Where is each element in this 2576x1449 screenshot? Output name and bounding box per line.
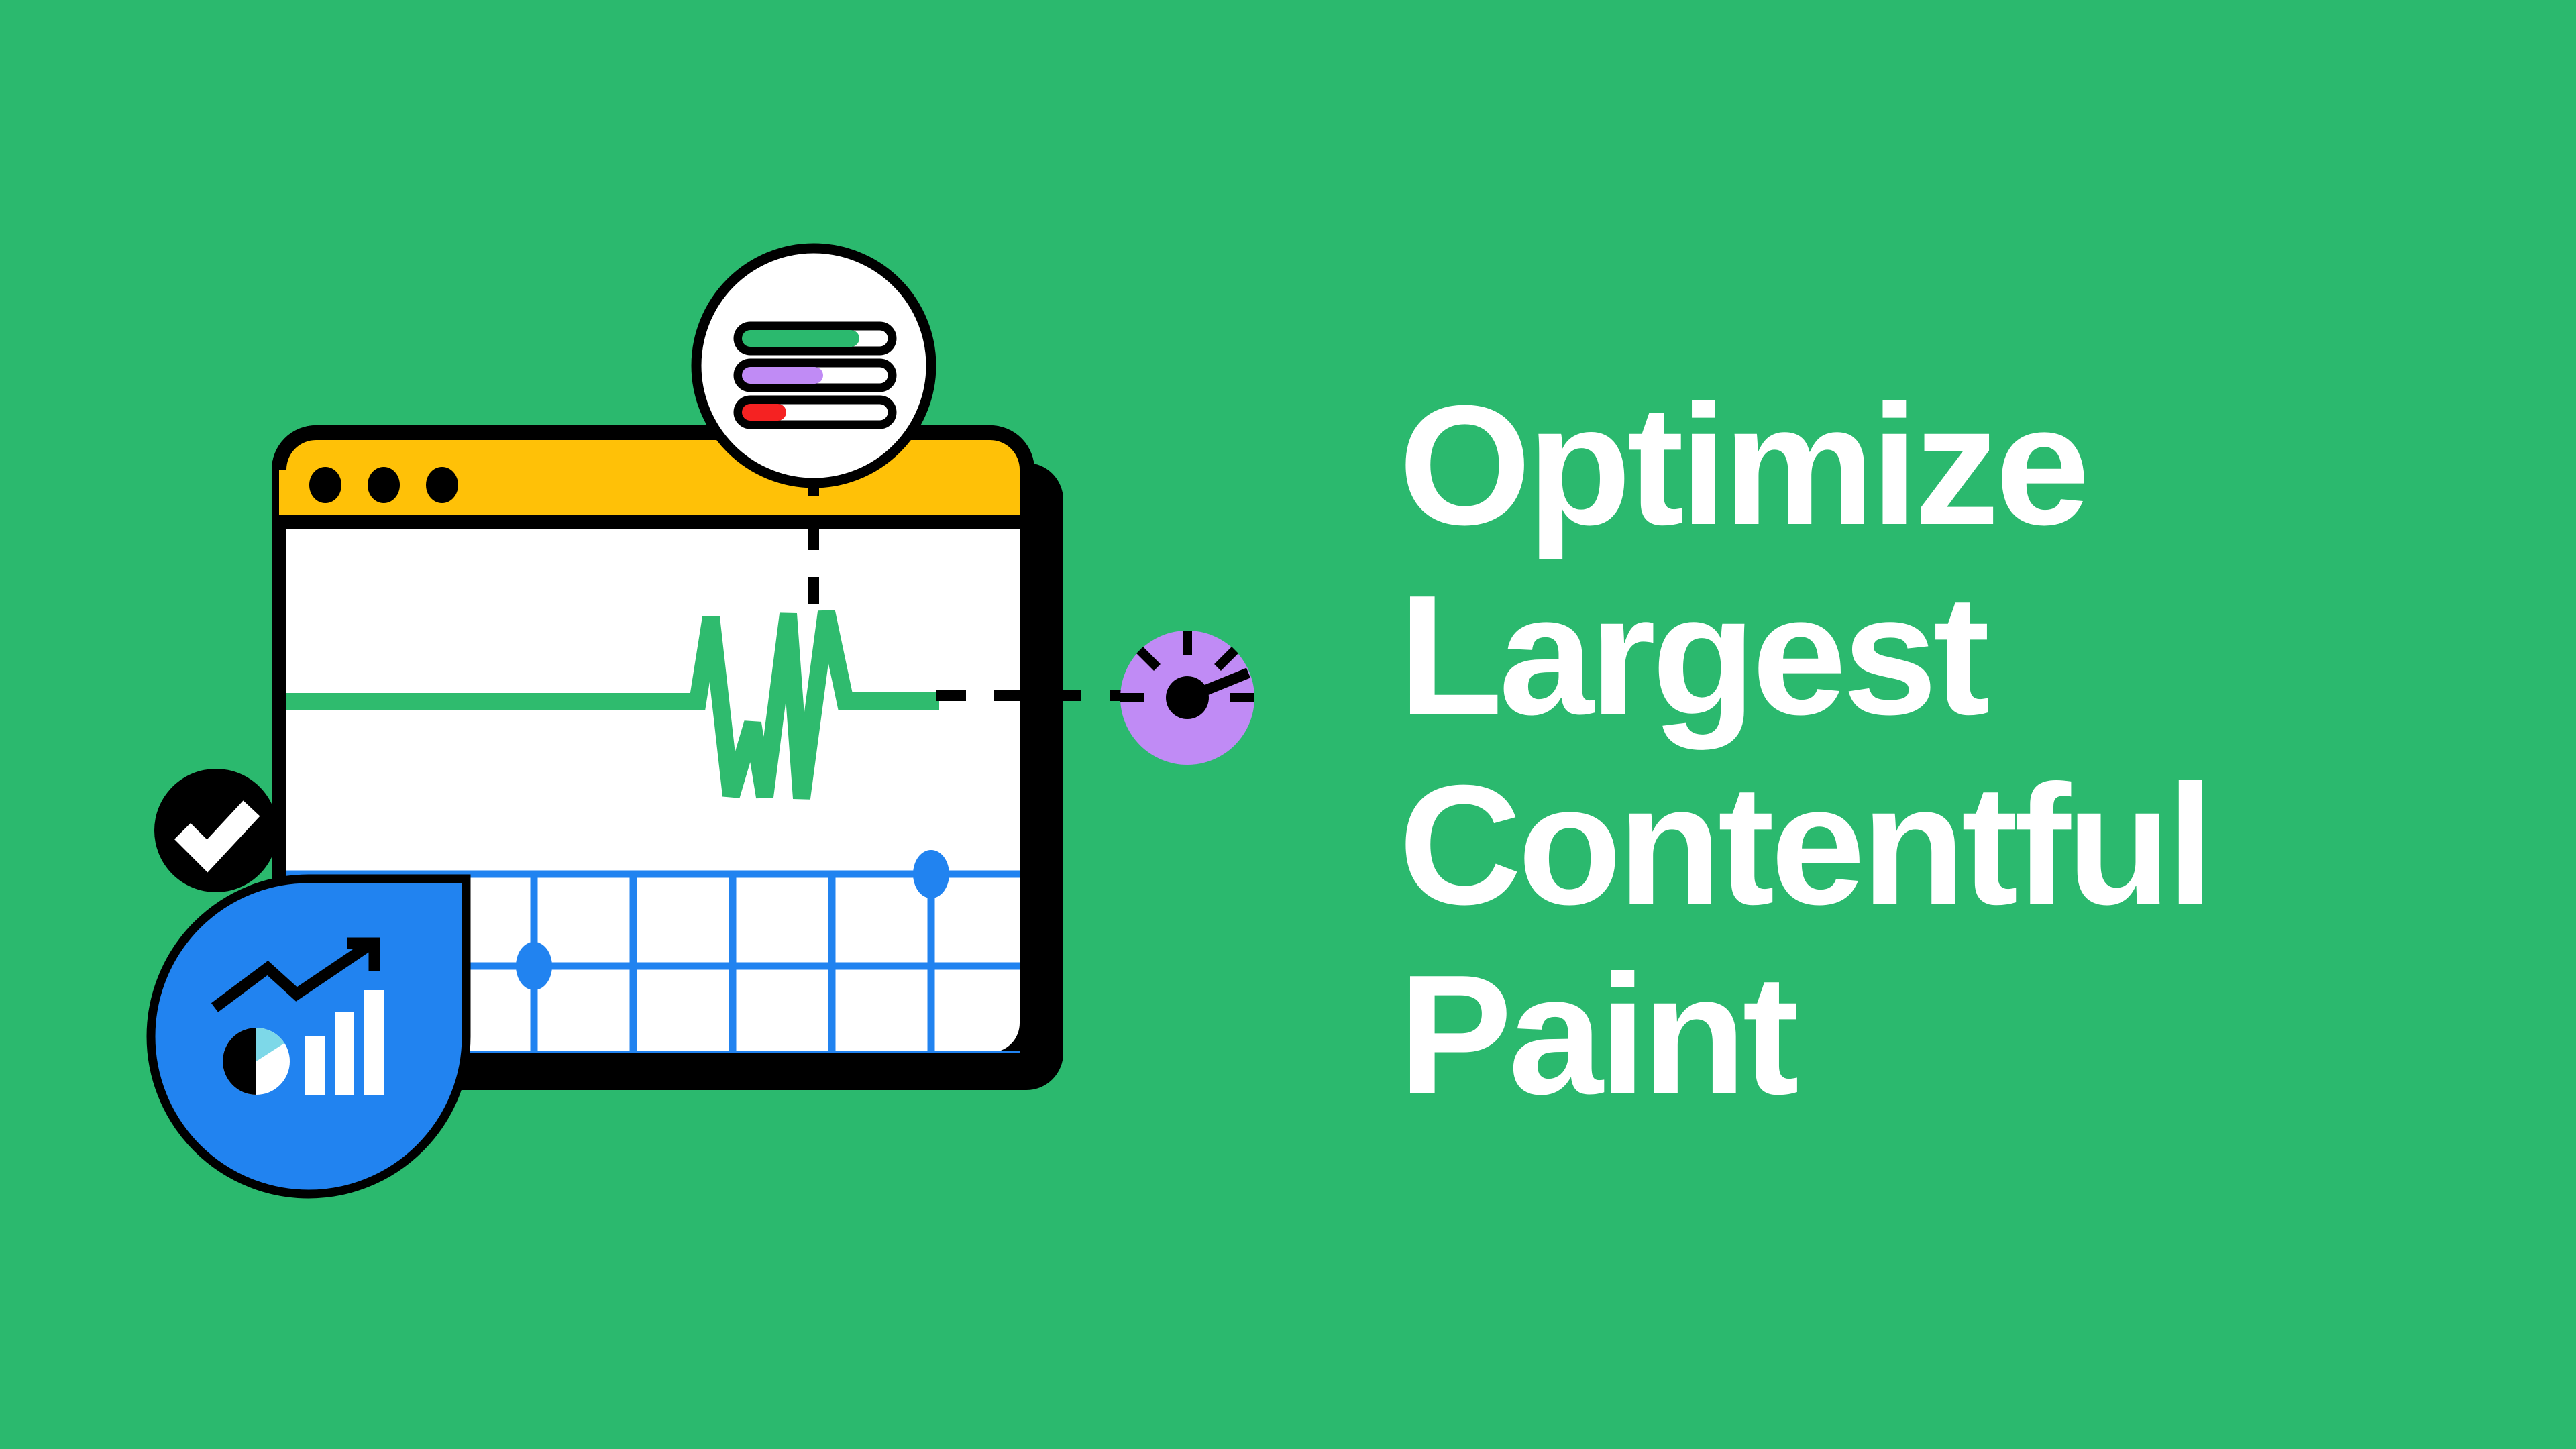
progress-bar-red[interactable] [738, 400, 892, 425]
headline-line-4: Paint [1399, 940, 2405, 1130]
pie-chart-icon [223, 1028, 290, 1095]
mini-bar-3 [364, 990, 384, 1095]
progress-fill-red [742, 404, 786, 421]
headline-line-2: Largest [1399, 560, 2405, 750]
mini-bar-1 [305, 1036, 325, 1095]
progress-fill-green [742, 330, 859, 347]
mini-bar-2 [335, 1012, 354, 1095]
window-dot-close-icon[interactable] [309, 467, 341, 503]
progress-bar-green[interactable] [738, 326, 892, 351]
window-dot-maximize-icon[interactable] [426, 467, 458, 503]
metrics-circle-badge[interactable] [696, 248, 931, 483]
headline-line-3: Contentful [1399, 750, 2405, 940]
data-point-1[interactable] [516, 942, 552, 990]
check-circle-badge[interactable] [154, 769, 278, 892]
progress-fill-purple [742, 367, 823, 384]
analytics-droplet-badge[interactable] [151, 879, 466, 1194]
progress-bar-purple[interactable] [738, 363, 892, 388]
data-point-2[interactable] [913, 850, 949, 898]
speedometer-gauge[interactable] [1120, 631, 1254, 765]
illustration-canvas: Optimize Largest Contentful Paint [0, 0, 2576, 1449]
page-title: Optimize Largest Contentful Paint [1399, 370, 2405, 1130]
window-dot-minimize-icon[interactable] [368, 467, 400, 503]
gauge-hub [1166, 676, 1209, 719]
headline-line-1: Optimize [1399, 370, 2405, 560]
